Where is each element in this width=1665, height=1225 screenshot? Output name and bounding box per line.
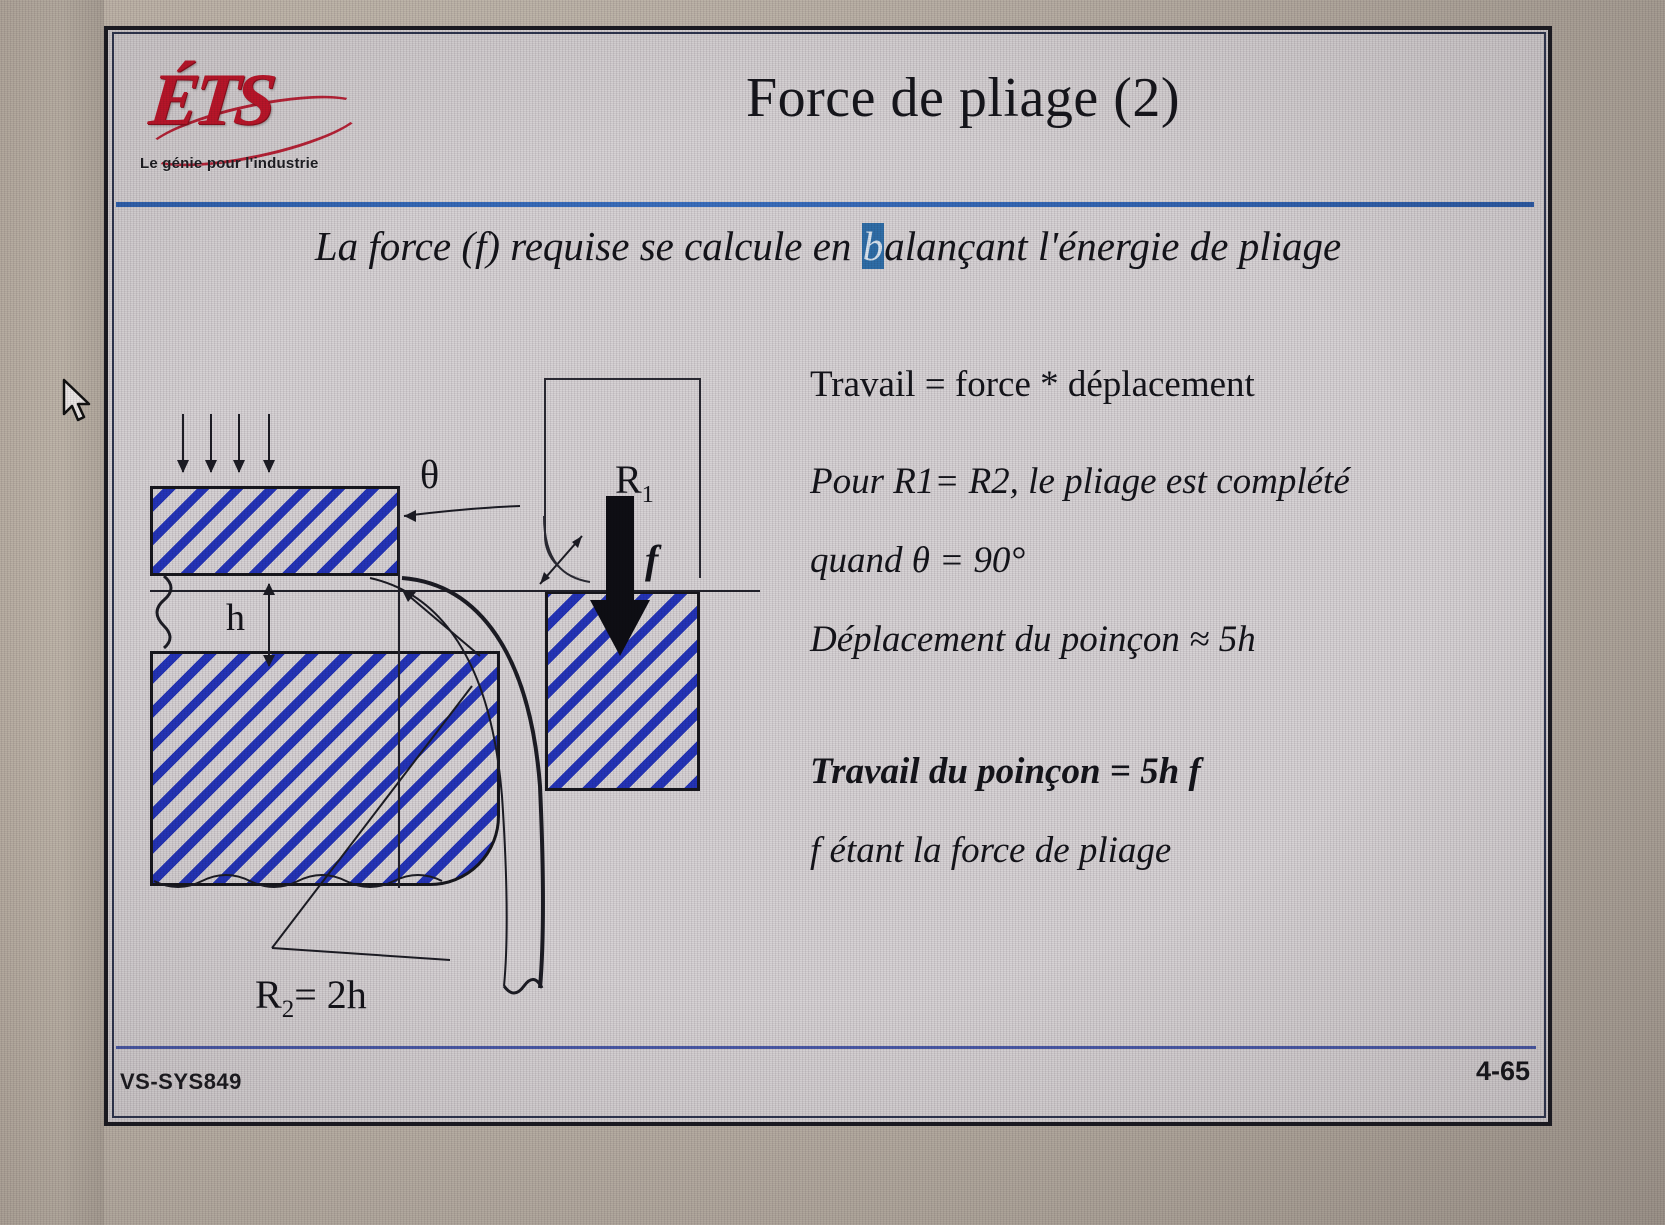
ets-logo: ÉTS Le génie pour l'industrie — [136, 52, 396, 192]
spacer — [810, 796, 1540, 832]
formula-work-definition: Travail = force * déplacement — [810, 366, 1540, 405]
explanation-text-block: Travail = force * déplacement Pour R1= R… — [810, 366, 1540, 875]
force-definition: f étant la force de pliage — [810, 832, 1540, 871]
label-radius-r1-letter: R — [615, 457, 642, 502]
punch-work-formula: Travail du poinçon = 5h f — [810, 753, 1540, 792]
course-code: VS-SYS849 — [120, 1069, 242, 1095]
label-radius-r2-subscript: 2 — [282, 996, 295, 1023]
footer-divider — [116, 1046, 1536, 1049]
page-title: Force de pliage (2) — [418, 66, 1508, 130]
desktop-left-gutter — [0, 0, 104, 1225]
label-radius-r1: R1 — [615, 456, 654, 509]
page-number: 4-65 — [1476, 1056, 1530, 1087]
mouse-pointer-icon — [60, 378, 96, 424]
photographed-screen: ÉTS Le génie pour l'industrie Force de p… — [0, 0, 1665, 1225]
label-force-f: f — [645, 536, 658, 583]
logo-wordmark: ÉTS — [146, 58, 276, 143]
slide-sheet: ÉTS Le génie pour l'industrie Force de p… — [104, 26, 1552, 1126]
subtitle-text-before: La force (f) requise se calcule en — [315, 223, 862, 269]
spacer — [810, 585, 1540, 621]
header-divider — [116, 202, 1534, 207]
spacer — [810, 409, 1540, 463]
spacer — [810, 506, 1540, 542]
label-theta: θ — [420, 451, 439, 498]
label-radius-r2-letter: R — [255, 972, 282, 1017]
label-radius-r2: R2= 2h — [255, 971, 367, 1024]
label-radius-r1-subscript: 1 — [642, 482, 654, 508]
subtitle-line: La force (f) requise se calcule en balan… — [104, 222, 1552, 270]
condition-theta-90: quand θ = 90° — [810, 542, 1540, 581]
label-thickness-h: h — [226, 596, 245, 640]
diagram-leader-lines — [120, 356, 820, 1046]
subtitle-text-after: alançant l'énergie de pliage — [884, 223, 1341, 269]
punch-displacement: Déplacement du poinçon ≈ 5h — [810, 621, 1540, 660]
logo-tagline: Le génie pour l'industrie — [140, 155, 319, 172]
condition-r1-r2: Pour R1= R2, le pliage est complété — [810, 463, 1540, 502]
label-radius-r2-value: = 2h — [294, 972, 367, 1017]
bending-die-diagram: θ h R1 f R2= 2h — [120, 356, 820, 1046]
slide-header: ÉTS Le génie pour l'industrie Force de p… — [118, 38, 1528, 208]
text-selection-highlight[interactable]: b — [862, 223, 885, 269]
spacer — [810, 663, 1540, 753]
